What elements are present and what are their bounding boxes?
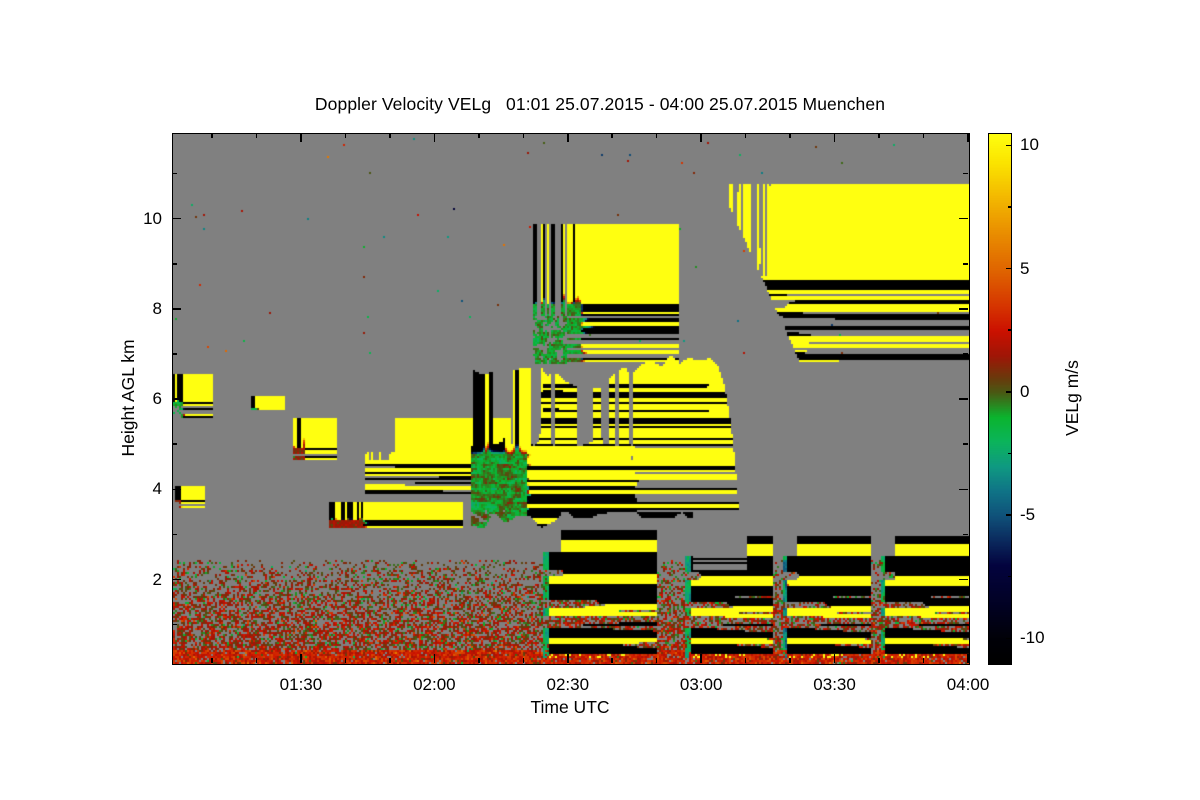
x-tick-minor-top xyxy=(523,133,525,138)
plot-area[interactable] xyxy=(172,133,970,665)
x-tick-major xyxy=(967,654,969,663)
y-tick-minor xyxy=(172,353,177,355)
x-tick-minor-top xyxy=(256,133,258,138)
x-tick-major xyxy=(834,654,836,663)
x-axis-label: Time UTC xyxy=(172,697,968,718)
x-tick-label: 03:30 xyxy=(813,675,856,695)
colorbar-label: VELg m/s xyxy=(1062,360,1083,436)
x-tick-minor xyxy=(211,658,213,663)
x-tick-major xyxy=(300,654,302,663)
y-tick-minor-right xyxy=(963,263,968,265)
y-tick-major-right xyxy=(959,308,968,310)
x-tick-major-top xyxy=(567,133,569,142)
x-tick-minor xyxy=(745,658,747,663)
colorbar-tick-minor xyxy=(1008,576,1012,578)
colorbar-tick-major xyxy=(1006,145,1012,147)
y-tick-major xyxy=(172,398,181,400)
x-tick-minor xyxy=(611,658,613,663)
y-tick-minor xyxy=(172,624,177,626)
x-tick-major-top xyxy=(300,133,302,142)
y-tick-minor-right xyxy=(963,624,968,626)
x-tick-major xyxy=(700,654,702,663)
x-tick-minor-top xyxy=(656,133,658,138)
colorbar-tick-label: -10 xyxy=(1020,628,1045,648)
x-tick-minor-top xyxy=(745,133,747,138)
colorbar-gradient xyxy=(989,134,1011,664)
y-tick-label: 2 xyxy=(132,570,162,590)
y-tick-minor-right xyxy=(963,173,968,175)
colorbar-tick-major xyxy=(1006,391,1012,393)
x-tick-major xyxy=(567,654,569,663)
x-tick-minor xyxy=(878,658,880,663)
y-axis-label: Height AGL km xyxy=(118,339,139,456)
y-tick-minor xyxy=(172,263,177,265)
y-tick-major-right xyxy=(959,489,968,491)
doppler-velocity-figure: Doppler Velocity VELg 01:01 25.07.2015 -… xyxy=(0,0,1200,800)
y-tick-major xyxy=(172,218,181,220)
colorbar[interactable] xyxy=(988,133,1012,665)
x-tick-minor xyxy=(256,658,258,663)
x-tick-minor-top xyxy=(789,133,791,138)
y-tick-major xyxy=(172,308,181,310)
y-tick-minor-right xyxy=(963,353,968,355)
x-tick-minor xyxy=(389,658,391,663)
colorbar-tick-label: 0 xyxy=(1020,382,1029,402)
x-tick-minor-top xyxy=(389,133,391,138)
x-tick-minor-top xyxy=(923,133,925,138)
y-tick-major xyxy=(172,579,181,581)
x-tick-label: 01:30 xyxy=(280,675,323,695)
colorbar-tick-label: 5 xyxy=(1020,259,1029,279)
colorbar-tick-minor xyxy=(1008,329,1012,331)
x-tick-major-top xyxy=(834,133,836,142)
x-tick-major-top xyxy=(434,133,436,142)
colorbar-tick-label: 10 xyxy=(1020,135,1039,155)
x-tick-minor xyxy=(923,658,925,663)
colorbar-tick-minor xyxy=(1008,453,1012,455)
x-tick-minor-top xyxy=(478,133,480,138)
y-tick-minor-right xyxy=(963,534,968,536)
x-tick-minor-top xyxy=(211,133,213,138)
y-tick-label: 8 xyxy=(132,299,162,319)
x-tick-label: 04:00 xyxy=(947,675,990,695)
y-tick-minor-right xyxy=(963,443,968,445)
colorbar-tick-major xyxy=(1006,638,1012,640)
y-tick-major-right xyxy=(959,218,968,220)
colorbar-tick-label: -5 xyxy=(1020,505,1035,525)
y-tick-label: 4 xyxy=(132,479,162,499)
x-tick-label: 02:30 xyxy=(546,675,589,695)
y-tick-label: 10 xyxy=(132,209,162,229)
y-tick-major-right xyxy=(959,579,968,581)
x-tick-minor xyxy=(789,658,791,663)
y-tick-major xyxy=(172,489,181,491)
x-tick-major xyxy=(434,654,436,663)
x-tick-label: 03:00 xyxy=(680,675,723,695)
y-tick-major-right xyxy=(959,398,968,400)
x-tick-major-top xyxy=(967,133,969,142)
colorbar-tick-major xyxy=(1006,514,1012,516)
x-tick-minor xyxy=(656,658,658,663)
x-tick-label: 02:00 xyxy=(413,675,456,695)
x-tick-minor xyxy=(523,658,525,663)
y-tick-minor xyxy=(172,443,177,445)
x-tick-minor-top xyxy=(878,133,880,138)
x-tick-minor-top xyxy=(611,133,613,138)
y-tick-minor xyxy=(172,534,177,536)
x-tick-minor xyxy=(345,658,347,663)
colorbar-tick-major xyxy=(1006,268,1012,270)
velocity-heatmap-canvas[interactable] xyxy=(173,134,969,664)
page-title: Doppler Velocity VELg 01:01 25.07.2015 -… xyxy=(0,94,1200,115)
y-tick-minor xyxy=(172,173,177,175)
x-tick-minor-top xyxy=(345,133,347,138)
x-tick-major-top xyxy=(700,133,702,142)
colorbar-tick-minor xyxy=(1008,206,1012,208)
x-tick-minor xyxy=(478,658,480,663)
